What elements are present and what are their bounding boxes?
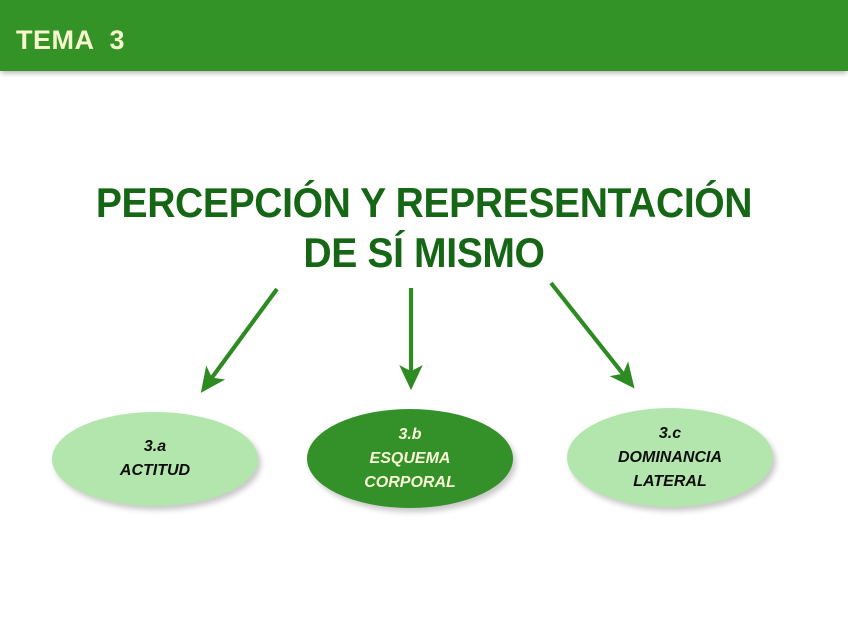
- slide-canvas: TEMA 3 PERCEPCIÓN Y REPRESENTACIÓN DE SÍ…: [0, 0, 848, 636]
- node-esquema-corporal-id: 3.b: [398, 423, 421, 447]
- arrow-to-actitud: [208, 289, 277, 383]
- node-actitud-id: 3.a: [144, 435, 166, 459]
- page-title-line-1: PERCEPCIÓN Y REPRESENTACIÓN: [30, 178, 819, 228]
- header-title: TEMA 3: [16, 27, 125, 54]
- node-esquema-corporal[interactable]: 3.b ESQUEMA CORPORAL: [307, 409, 513, 508]
- page-title-line-2: DE SÍ MISMO: [30, 228, 819, 278]
- node-dominancia-lateral[interactable]: 3.c DOMINANCIA LATERAL: [567, 408, 773, 507]
- node-esquema-corporal-label-line-2: CORPORAL: [364, 471, 456, 495]
- node-dominancia-lateral-id: 3.c: [659, 422, 681, 446]
- node-dominancia-lateral-label-line-2: LATERAL: [633, 470, 706, 494]
- arrows-layer: [0, 0, 848, 636]
- node-dominancia-lateral-label-line-1: DOMINANCIA: [618, 446, 722, 470]
- header-bar: TEMA 3: [0, 0, 848, 71]
- page-title: PERCEPCIÓN Y REPRESENTACIÓN DE SÍ MISMO: [30, 178, 819, 278]
- node-esquema-corporal-label-line-1: ESQUEMA: [370, 447, 451, 471]
- node-actitud-label: ACTITUD: [120, 459, 190, 483]
- node-actitud[interactable]: 3.a ACTITUD: [52, 412, 258, 506]
- arrow-to-dominancia-lateral: [551, 283, 627, 379]
